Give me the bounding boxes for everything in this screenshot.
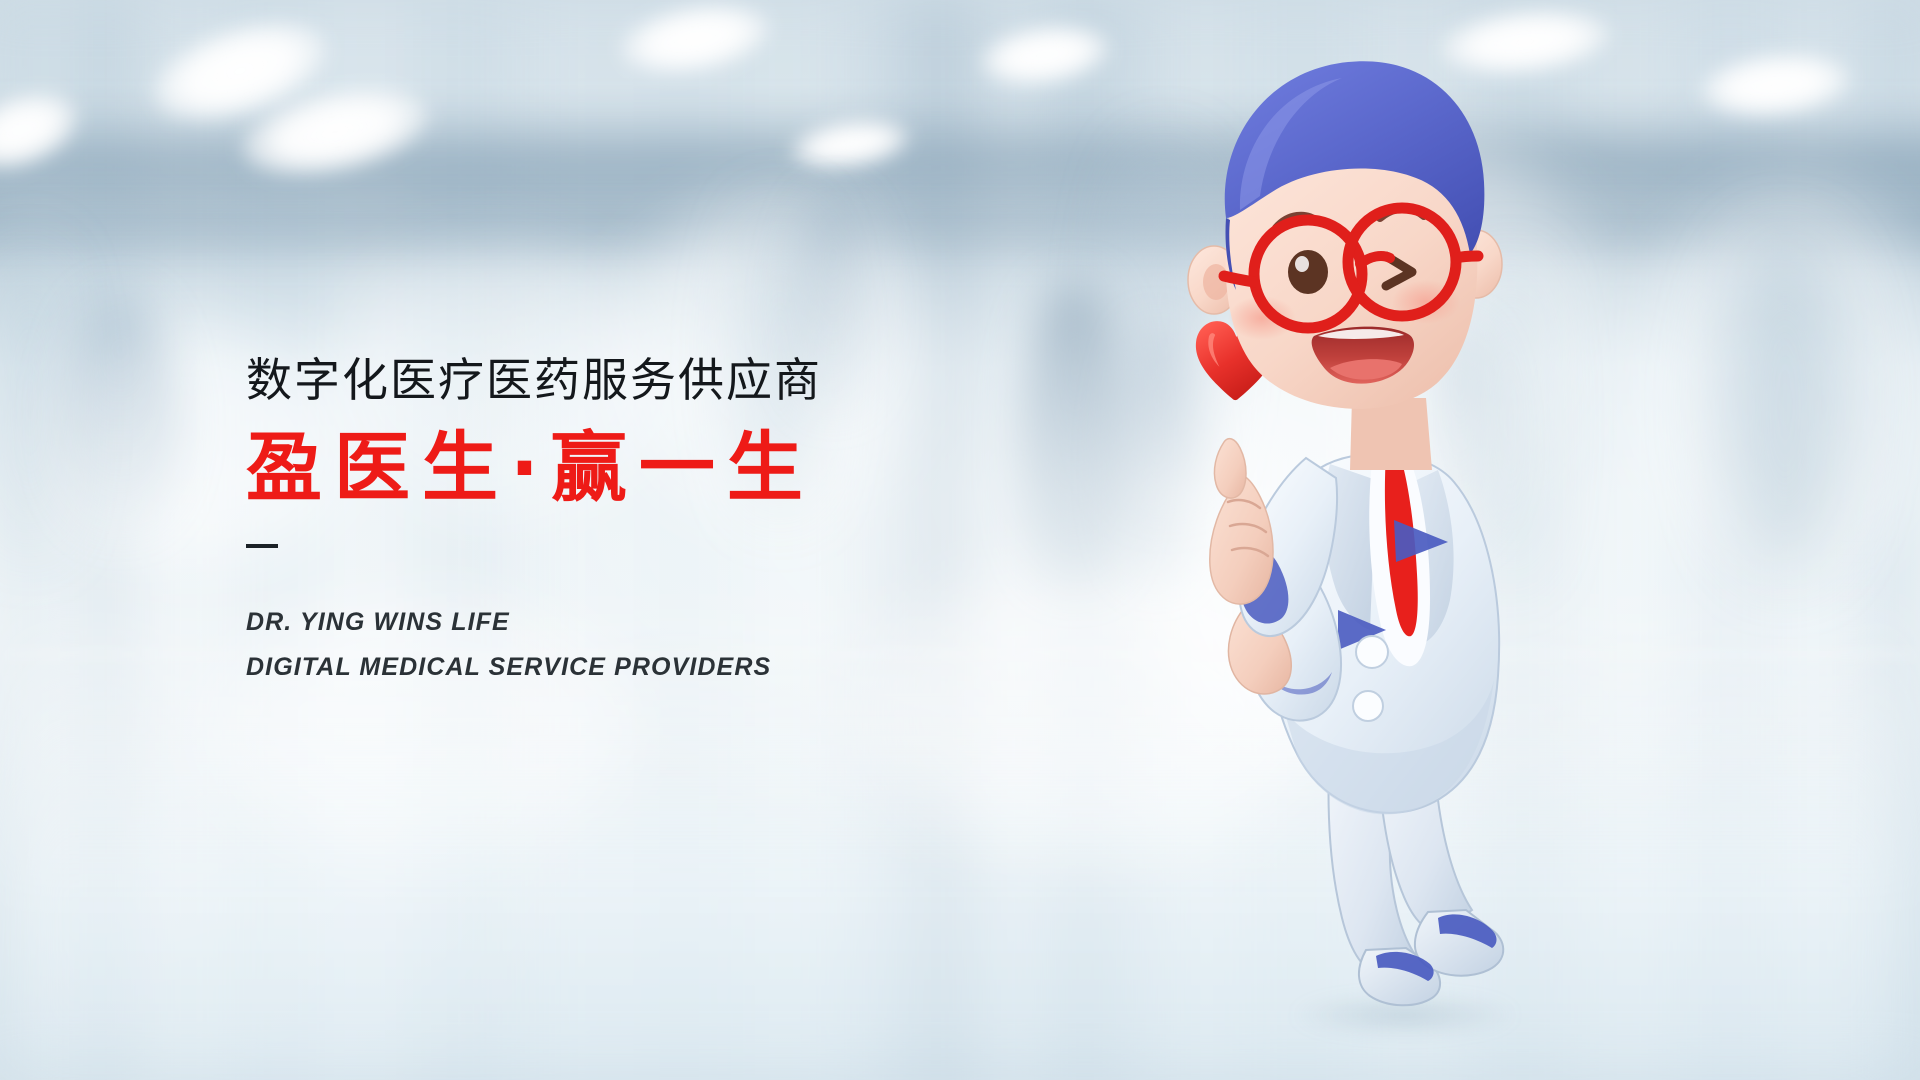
mascot-eye-highlight — [1295, 256, 1309, 272]
hero-subheadline: 数字化医疗医药服务供应商 — [246, 355, 1046, 406]
hero-headline: 盈医生·赢一生 — [246, 428, 1046, 509]
mascot-coat-button-top — [1356, 636, 1388, 668]
doctor-mascot-illustration — [1180, 50, 1600, 1060]
mascot-neck — [1350, 398, 1432, 470]
hero-banner: 数字化医疗医药服务供应商 盈医生·赢一生 DR. YING WINS LIFE … — [0, 0, 1920, 1080]
hero-copy-block: 数字化医疗医药服务供应商 盈医生·赢一生 DR. YING WINS LIFE … — [246, 355, 1046, 689]
mascot-eye-open — [1288, 250, 1328, 294]
mascot-ear-inner-left — [1203, 264, 1229, 300]
glasses-temple-right-icon — [1456, 256, 1478, 258]
divider-rule — [246, 544, 278, 548]
hero-english-tagline: DR. YING WINS LIFE DIGITAL MEDICAL SERVI… — [246, 600, 1046, 689]
mascot-forearm-raised — [1210, 476, 1273, 604]
mascot-index-finger — [1214, 439, 1246, 498]
glasses-temple-left-icon — [1224, 276, 1254, 282]
hero-english-line-1: DR. YING WINS LIFE — [246, 600, 1046, 645]
mascot-coat-button-bottom — [1353, 691, 1383, 721]
hero-english-line-2: DIGITAL MEDICAL SERVICE PROVIDERS — [246, 645, 1046, 690]
